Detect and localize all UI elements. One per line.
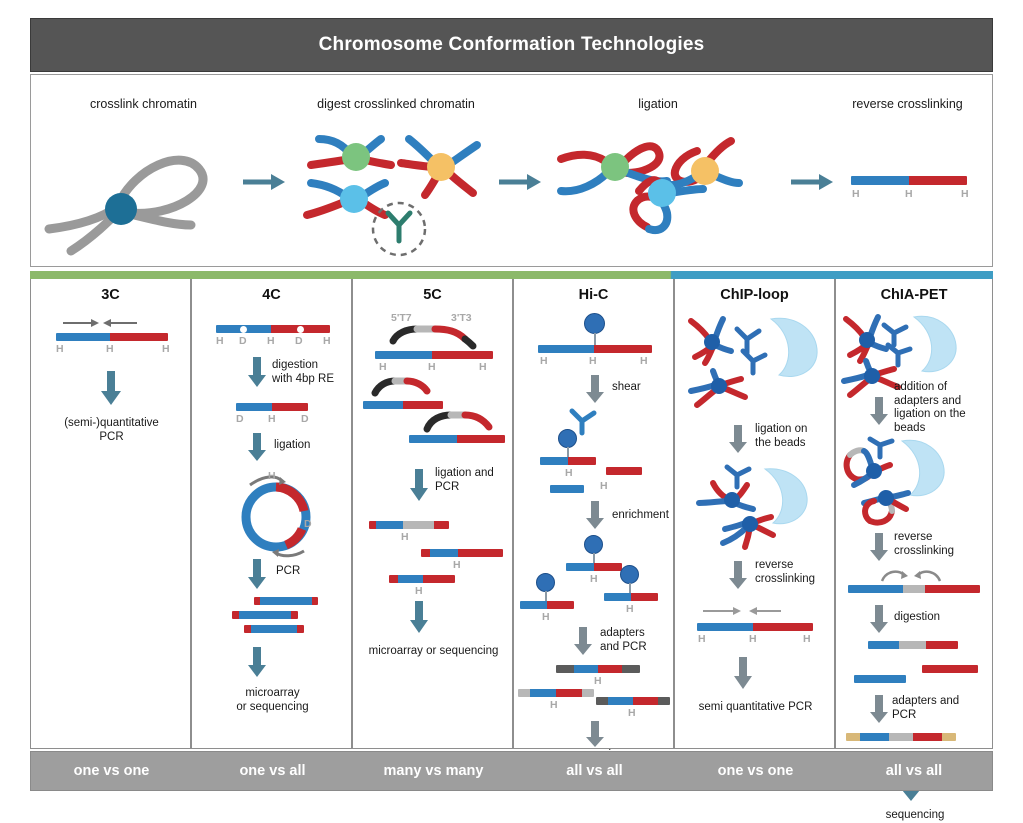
column-header: ChIP-loop bbox=[675, 287, 834, 303]
d-mark: D bbox=[301, 414, 309, 425]
fragment-bar bbox=[375, 351, 493, 359]
fragment-bar bbox=[566, 563, 622, 571]
workflow-step-reverse-crosslink: reverse crosslinking H H H bbox=[821, 75, 994, 266]
h-mark: H bbox=[600, 481, 608, 492]
biotin-bead bbox=[584, 313, 605, 334]
fragment-bar bbox=[540, 457, 596, 465]
h-mark: H bbox=[550, 700, 558, 711]
column-header: 4C bbox=[192, 287, 351, 303]
fragment-bar bbox=[606, 467, 642, 475]
column-header: Hi-C bbox=[514, 287, 673, 303]
d-mark: D bbox=[239, 336, 247, 347]
fragment-bar bbox=[851, 176, 967, 185]
ligated-complexes-icon bbox=[543, 121, 773, 261]
footer-cell-3c: one vs one bbox=[31, 752, 192, 790]
step-label: microarray or sequencing bbox=[353, 645, 514, 659]
fragment-bar bbox=[236, 403, 308, 411]
biotin-bead bbox=[536, 573, 555, 592]
step-label: reverse crosslinking bbox=[894, 531, 986, 558]
column-body: addition of adapters and ligation on the… bbox=[836, 309, 992, 749]
fragment-bar bbox=[363, 401, 443, 409]
h-mark: H bbox=[479, 362, 487, 373]
footer-label: all vs all bbox=[566, 763, 622, 779]
column-body: ligation on the beads bbox=[675, 309, 834, 749]
step-label: adapters and PCR bbox=[600, 627, 672, 654]
footer-cell-5c: many vs many bbox=[353, 752, 514, 790]
h-mark: H bbox=[698, 634, 706, 645]
fragment-bar bbox=[254, 597, 318, 605]
step-label: digestion bbox=[894, 611, 964, 625]
technologies-band: 3C H H H (semi-)quantitative PCR bbox=[30, 271, 993, 749]
column-chia-pet: ChIA-PET bbox=[835, 279, 993, 749]
step-label: ligation on the beads bbox=[755, 423, 829, 450]
primer-label-t7: 5'T7 bbox=[391, 313, 412, 324]
h-mark: H bbox=[589, 356, 597, 367]
h-mark: H bbox=[803, 634, 811, 645]
h-mark: H bbox=[749, 634, 757, 645]
linear-hybrid-fragment-icon: H H H bbox=[821, 121, 994, 261]
column-header: ChIA-PET bbox=[836, 287, 992, 303]
figure-root: Chromosome Conformation Technologies cro… bbox=[30, 18, 993, 800]
workflow-step-caption: reverse crosslinking bbox=[821, 97, 994, 112]
d-site-marker bbox=[297, 326, 304, 333]
comparison-footer: one vs one one vs all many vs many all v… bbox=[30, 751, 993, 791]
workflow-step-ligation: ligation bbox=[543, 75, 773, 266]
step-label: ligation bbox=[274, 439, 344, 453]
h-mark: H bbox=[640, 356, 648, 367]
step-label: (semi-)quantitative PCR bbox=[31, 417, 192, 444]
h-mark: H bbox=[415, 586, 423, 597]
column-5c: 5C 5'T7 3'T3 H H H bbox=[352, 279, 513, 749]
column-header: 5C bbox=[353, 287, 512, 303]
biotin-bead bbox=[584, 535, 603, 554]
fragment-bar bbox=[389, 575, 455, 583]
h-mark: H bbox=[268, 414, 276, 425]
h-mark: H bbox=[540, 356, 548, 367]
workflow-step-digest: digest crosslinked chromatin bbox=[281, 75, 511, 266]
column-chip-loop: ChIP-loop bbox=[674, 279, 835, 749]
footer-label: one vs one bbox=[718, 763, 794, 779]
d-mark: D bbox=[295, 336, 303, 347]
fragment-bar bbox=[848, 585, 980, 593]
step-label: reverse crosslinking bbox=[755, 559, 831, 586]
column-header: 3C bbox=[31, 287, 190, 303]
footer-cell-hic: all vs all bbox=[514, 752, 675, 790]
d-site-marker bbox=[240, 326, 247, 333]
d-mark: D bbox=[236, 414, 244, 425]
h-mark: H bbox=[106, 344, 114, 355]
fragment-bar bbox=[868, 641, 958, 649]
h-mark: H bbox=[565, 468, 573, 479]
footer-label: all vs all bbox=[886, 763, 942, 779]
h-mark: H bbox=[323, 336, 331, 347]
fragment-bar bbox=[232, 611, 298, 619]
figure-title: Chromosome Conformation Technologies bbox=[319, 34, 705, 56]
fragment-bar bbox=[922, 665, 978, 673]
figure-title-bar: Chromosome Conformation Technologies bbox=[30, 18, 993, 72]
fragment-bar bbox=[846, 733, 956, 741]
step-label: enrichment bbox=[612, 509, 676, 523]
h-mark: H bbox=[56, 344, 64, 355]
column-3c: 3C H H H (semi-)quantitative PCR bbox=[30, 279, 191, 749]
h-mark: H bbox=[401, 532, 409, 543]
fragment-bar bbox=[216, 325, 330, 333]
footer-cell-chip-loop: one vs one bbox=[675, 752, 836, 790]
workflow-step-crosslink: crosslink chromatin bbox=[31, 75, 256, 266]
column-4c: 4C H D H D H digestion with 4bp RE bbox=[191, 279, 352, 749]
d-mark: D bbox=[304, 519, 312, 530]
step-label: adapters and PCR bbox=[892, 695, 984, 722]
h-mark: H bbox=[626, 604, 634, 615]
fragment-bar bbox=[854, 675, 906, 683]
workflow-panel: crosslink chromatin digest crosslinked c… bbox=[30, 74, 993, 267]
step-label: digestion with 4bp RE bbox=[272, 359, 352, 386]
workflow-step-caption: crosslink chromatin bbox=[31, 97, 256, 112]
fragment-bar bbox=[550, 485, 584, 493]
h-mark: H bbox=[453, 560, 461, 571]
footer-label: one vs one bbox=[74, 763, 150, 779]
column-body: 5'T7 3'T3 H H H bbox=[353, 309, 512, 749]
fragment-bar bbox=[56, 333, 168, 341]
workflow-step-caption: digest crosslinked chromatin bbox=[281, 97, 511, 112]
step-label: addition of adapters and ligation on the… bbox=[894, 381, 992, 435]
h-mark: H bbox=[628, 708, 636, 719]
biotin-bead bbox=[558, 429, 577, 448]
h-mark: H bbox=[594, 676, 602, 687]
h-mark: H bbox=[267, 336, 275, 347]
h-mark: H bbox=[428, 362, 436, 373]
primer-label-t3: 3'T3 bbox=[451, 313, 472, 324]
step-label: semi quantitative PCR bbox=[675, 701, 836, 715]
chromatin-loop-icon bbox=[31, 121, 256, 261]
column-body: H H H (semi-)quantitative PCR bbox=[31, 309, 190, 749]
workflow-arrow bbox=[497, 171, 545, 193]
step-label: shear bbox=[612, 381, 672, 395]
fragment-bar bbox=[596, 697, 670, 705]
fragment-bar bbox=[369, 521, 449, 529]
step-label: PCR bbox=[276, 565, 336, 579]
column-hic: Hi-C H H H shear bbox=[513, 279, 674, 749]
h-mark: H bbox=[905, 189, 913, 200]
h-mark: H bbox=[162, 344, 170, 355]
h-mark: H bbox=[852, 189, 860, 200]
step-label: ligation and PCR bbox=[435, 467, 513, 494]
fragment-bar bbox=[697, 623, 813, 631]
digested-fragments-icon bbox=[281, 121, 511, 261]
workflow-step-caption: ligation bbox=[543, 97, 773, 112]
fragment-bar bbox=[518, 689, 594, 697]
footer-label: one vs all bbox=[239, 763, 305, 779]
column-body: H D H D H digestion with 4bp RE D H D bbox=[192, 309, 351, 749]
fragment-bar bbox=[604, 593, 658, 601]
h-mark: H bbox=[379, 362, 387, 373]
h-mark: H bbox=[961, 189, 969, 200]
fragment-bar bbox=[556, 665, 640, 673]
footer-cell-chia-pet: all vs all bbox=[836, 752, 992, 790]
fragment-bar bbox=[421, 549, 503, 557]
step-label: microarray or sequencing bbox=[192, 687, 353, 714]
fragment-bar bbox=[409, 435, 505, 443]
band-accent-bar bbox=[30, 271, 993, 279]
footer-cell-4c: one vs all bbox=[192, 752, 353, 790]
h-mark: H bbox=[542, 612, 550, 623]
footer-label: many vs many bbox=[384, 763, 484, 779]
column-body: H H H shear H bbox=[514, 309, 673, 749]
h-mark: H bbox=[268, 471, 276, 482]
fragment-bar bbox=[520, 601, 574, 609]
biotin-bead bbox=[620, 565, 639, 584]
fragment-bar bbox=[538, 345, 652, 353]
fragment-bar bbox=[244, 625, 304, 633]
h-mark: H bbox=[590, 574, 598, 585]
h-mark: H bbox=[216, 336, 224, 347]
